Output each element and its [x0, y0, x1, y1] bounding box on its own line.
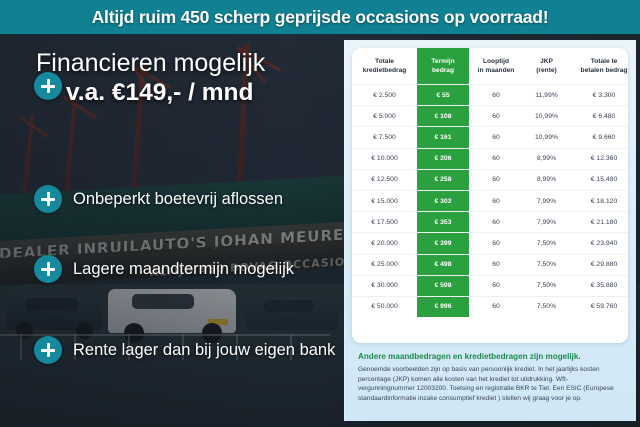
table-cell: 60: [469, 275, 523, 296]
plus-icon: [34, 185, 62, 213]
table-cell: € 5.000: [352, 106, 417, 127]
table-cell: € 20.000: [352, 233, 417, 254]
table-cell: 7,50%: [523, 296, 570, 317]
table-cell: 60: [469, 296, 523, 317]
benefit-label: Rente lager dan bij jouw eigen bank: [73, 341, 335, 360]
table-cell: € 161: [417, 127, 469, 148]
table-cell: 60: [469, 233, 523, 254]
table-cell: 7,50%: [523, 275, 570, 296]
table-cell: 60: [469, 169, 523, 190]
table-cell: 8,99%: [523, 148, 570, 169]
banner-headline: Altijd ruim 450 scherp geprijsde occasio…: [92, 7, 549, 28]
card-left-edge: [344, 40, 345, 421]
benefit-item-3: Rente lager dan bij jouw eigen bank: [34, 336, 335, 364]
table-cell: 11,99%: [523, 85, 570, 106]
table-cell: 7,50%: [523, 233, 570, 254]
plus-icon: [34, 72, 62, 100]
table-cell: € 302: [417, 190, 469, 211]
benefits-list: Financieren mogelijk v.a. €149,- / mnd O…: [0, 34, 345, 427]
table-cell: € 7.500: [352, 127, 417, 148]
rates-table: Totale kredietbedrag Termijn bedrag Loop…: [352, 48, 628, 317]
table-cell: € 35.880: [570, 275, 628, 296]
table-cell: € 12.500: [352, 169, 417, 190]
table-cell: € 353: [417, 212, 469, 233]
loan-info-card: Totale kredietbedrag Termijn bedrag Loop…: [344, 40, 636, 421]
table-row: € 17.500€ 353607,99%€ 21.180: [352, 212, 628, 233]
table-cell: € 21.180: [570, 212, 628, 233]
col-header-total-credit: Totale kredietbedrag: [352, 48, 417, 85]
table-cell: € 498: [417, 254, 469, 275]
benefit-label: Lagere maandtermijn mogelijk: [73, 260, 294, 279]
table-cell: € 9.660: [570, 127, 628, 148]
table-cell: 10,99%: [523, 127, 570, 148]
table-row: € 12.500€ 258608,99%€ 15.480: [352, 169, 628, 190]
table-cell: 60: [469, 127, 523, 148]
disclaimer-block: Andere maandbedragen en kredietbedragen …: [358, 352, 624, 403]
hero-line-2: v.a. €149,- / mnd: [66, 78, 336, 108]
table-row: € 30.000€ 598607,50%€ 35.880: [352, 275, 628, 296]
table-row: € 10.000€ 206608,99%€ 12.360: [352, 148, 628, 169]
plus-icon: [34, 336, 62, 364]
table-row: € 25.000€ 498607,50%€ 29.880: [352, 254, 628, 275]
hero-line-1: Financieren mogelijk: [36, 48, 336, 78]
table-cell: 60: [469, 148, 523, 169]
table-cell: 60: [469, 212, 523, 233]
benefit-item-2: Lagere maandtermijn mogelijk: [34, 255, 294, 283]
table-cell: € 399: [417, 233, 469, 254]
table-row: € 5.000€ 1086010,99%€ 6.480: [352, 106, 628, 127]
table-cell: 7,50%: [523, 254, 570, 275]
table-cell: 60: [469, 190, 523, 211]
table-cell: € 23.940: [570, 233, 628, 254]
table-cell: 10,99%: [523, 106, 570, 127]
rates-table-container: Totale kredietbedrag Termijn bedrag Loop…: [352, 48, 628, 343]
table-row: € 7.500€ 1616010,99%€ 9.660: [352, 127, 628, 148]
benefit-label: Onbeperkt boetevrij aflossen: [73, 190, 283, 209]
plus-icon: [34, 255, 62, 283]
table-row: € 15.000€ 302607,99%€ 18.120: [352, 190, 628, 211]
table-cell: 7,99%: [523, 212, 570, 233]
table-row: € 2.500€ 556011,99%€ 3.300: [352, 85, 628, 106]
table-cell: € 59.760: [570, 296, 628, 317]
table-cell: € 996: [417, 296, 469, 317]
table-header-row: Totale kredietbedrag Termijn bedrag Loop…: [352, 48, 628, 85]
rates-table-head: Totale kredietbedrag Termijn bedrag Loop…: [352, 48, 628, 85]
table-cell: 60: [469, 85, 523, 106]
col-header-jkp: JKP (rente): [523, 48, 570, 85]
table-row: € 20.000€ 399607,50%€ 23.940: [352, 233, 628, 254]
table-cell: 8,99%: [523, 169, 570, 190]
table-cell: € 12.360: [570, 148, 628, 169]
table-cell: € 206: [417, 148, 469, 169]
table-cell: € 15.000: [352, 190, 417, 211]
table-cell: € 50.000: [352, 296, 417, 317]
disclaimer-body: Genoemde voorbeelden zijn op basis van p…: [358, 365, 624, 403]
top-banner: Altijd ruim 450 scherp geprijsde occasio…: [0, 0, 640, 34]
table-cell: € 25.000: [352, 254, 417, 275]
rates-table-body: € 2.500€ 556011,99%€ 3.300€ 5.000€ 10860…: [352, 85, 628, 318]
ad-banner: Altijd ruim 450 scherp geprijsde occasio…: [0, 0, 640, 427]
disclaimer-title: Andere maandbedragen en kredietbedragen …: [358, 352, 624, 361]
table-cell: 7,99%: [523, 190, 570, 211]
table-cell: € 55: [417, 85, 469, 106]
table-cell: € 29.880: [570, 254, 628, 275]
table-cell: 60: [469, 254, 523, 275]
table-cell: € 18.120: [570, 190, 628, 211]
col-header-total-payable: Totale te betalen bedrag: [570, 48, 628, 85]
col-header-duration: Looptijd in maanden: [469, 48, 523, 85]
table-cell: € 598: [417, 275, 469, 296]
table-cell: € 258: [417, 169, 469, 190]
benefit-item-1: Onbeperkt boetevrij aflossen: [34, 185, 283, 213]
table-row: € 50.000€ 996607,50%€ 59.760: [352, 296, 628, 317]
table-cell: € 17.500: [352, 212, 417, 233]
table-cell: € 108: [417, 106, 469, 127]
table-cell: € 15.480: [570, 169, 628, 190]
table-cell: € 6.480: [570, 106, 628, 127]
table-cell: € 10.000: [352, 148, 417, 169]
col-header-term-amount: Termijn bedrag: [417, 48, 469, 85]
table-cell: € 3.300: [570, 85, 628, 106]
table-cell: 60: [469, 106, 523, 127]
hero-offer: Financieren mogelijk v.a. €149,- / mnd: [36, 48, 336, 108]
table-cell: € 2.500: [352, 85, 417, 106]
table-cell: € 30.000: [352, 275, 417, 296]
